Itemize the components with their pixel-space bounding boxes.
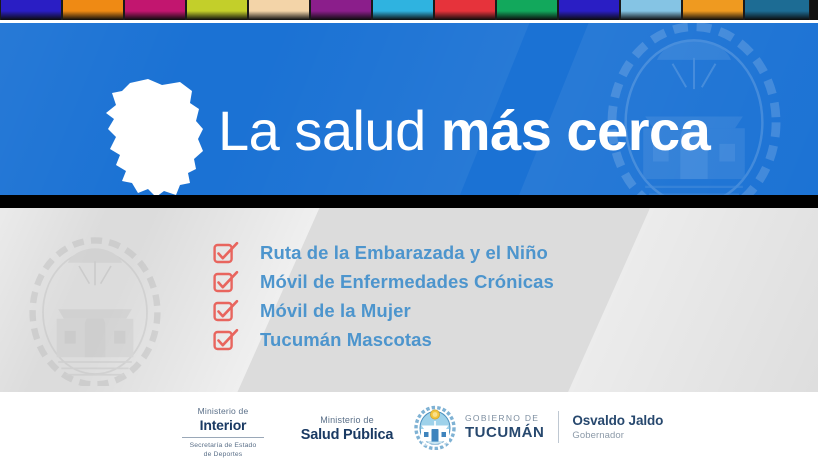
checkbox-checked-icon	[213, 298, 239, 324]
color-strip-segment-5	[248, 0, 310, 20]
interior-subline-1: Secretaría de Estado	[175, 441, 271, 450]
panel-sheen	[544, 208, 818, 392]
hero-banner: La salud más cerca	[0, 23, 818, 195]
interior-subline-2: de Deportes	[175, 450, 271, 459]
decorative-color-strip	[0, 0, 818, 20]
color-strip-segment-7	[372, 0, 434, 20]
color-strip-segment-10	[558, 0, 620, 20]
salud-line-main: Salud Pública	[285, 426, 409, 444]
gobierno-divider-rule	[558, 411, 559, 443]
checkbox-checked-icon	[213, 327, 239, 353]
checkbox-checked-icon	[213, 240, 239, 266]
interior-line-main: Interior	[175, 417, 271, 434]
gobierno-line-top: GOBIERNO DE	[465, 413, 544, 424]
logo-ministerio-salud-publica: Ministerio de Salud Pública	[285, 414, 409, 444]
color-strip-segment-6	[310, 0, 372, 20]
checkbox-checked-icon	[213, 269, 239, 295]
color-strip-segment-9	[496, 0, 558, 20]
color-strip-segment-3	[124, 0, 186, 20]
services-list: Ruta de la Embarazada y el Niño Móvil de…	[213, 238, 554, 354]
color-strip-segment-13	[744, 0, 810, 20]
color-strip-segment-8	[434, 0, 496, 20]
tucuman-map-silhouette-icon	[104, 79, 212, 195]
gobierno-line-main: TUCUMÁN	[465, 424, 544, 442]
list-item[interactable]: Móvil de Enfermedades Crónicas	[213, 267, 554, 296]
color-strip-segment-2	[62, 0, 124, 20]
logo-gobierno-tucuman: GOBIERNO DE TUCUMÁN Osvaldo Jaldo Gobern…	[412, 404, 663, 450]
list-item[interactable]: Móvil de la Mujer	[213, 296, 554, 325]
service-label: Móvil de la Mujer	[260, 300, 411, 322]
color-strip-segment-12	[682, 0, 744, 20]
service-label: Móvil de Enfermedades Crónicas	[260, 271, 554, 293]
page-title: La salud más cerca	[218, 100, 710, 162]
service-label: Tucumán Mascotas	[260, 329, 432, 351]
list-item[interactable]: Tucumán Mascotas	[213, 325, 554, 354]
color-strip-segment-11	[620, 0, 682, 20]
gobierno-wordmark: GOBIERNO DE TUCUMÁN	[465, 413, 544, 442]
interior-divider-rule	[182, 437, 264, 438]
logo-ministerio-interior: Ministerio de Interior Secretaría de Est…	[175, 406, 271, 459]
footer-logo-bar: Ministerio de Interior Secretaría de Est…	[0, 392, 818, 460]
governor-role: Gobernador	[572, 429, 663, 442]
services-panel: Ruta de la Embarazada y el Niño Móvil de…	[0, 208, 818, 392]
list-item[interactable]: Ruta de la Embarazada y el Niño	[213, 238, 554, 267]
interior-line-top: Ministerio de	[175, 406, 271, 417]
salud-line-top: Ministerio de	[285, 414, 409, 426]
color-strip-segment-1	[0, 0, 62, 20]
governor-block: Osvaldo Jaldo Gobernador	[572, 412, 663, 442]
tucuman-government-seal-icon	[412, 404, 458, 450]
black-divider	[0, 195, 818, 208]
color-strip-segment-4	[186, 0, 248, 20]
governor-name: Osvaldo Jaldo	[572, 412, 663, 429]
service-label: Ruta de la Embarazada y el Niño	[260, 242, 548, 264]
tucuman-provincial-seal-watermark-icon	[14, 226, 176, 386]
title-bold-part: más cerca	[441, 99, 711, 162]
title-light-part: La salud	[218, 99, 441, 162]
